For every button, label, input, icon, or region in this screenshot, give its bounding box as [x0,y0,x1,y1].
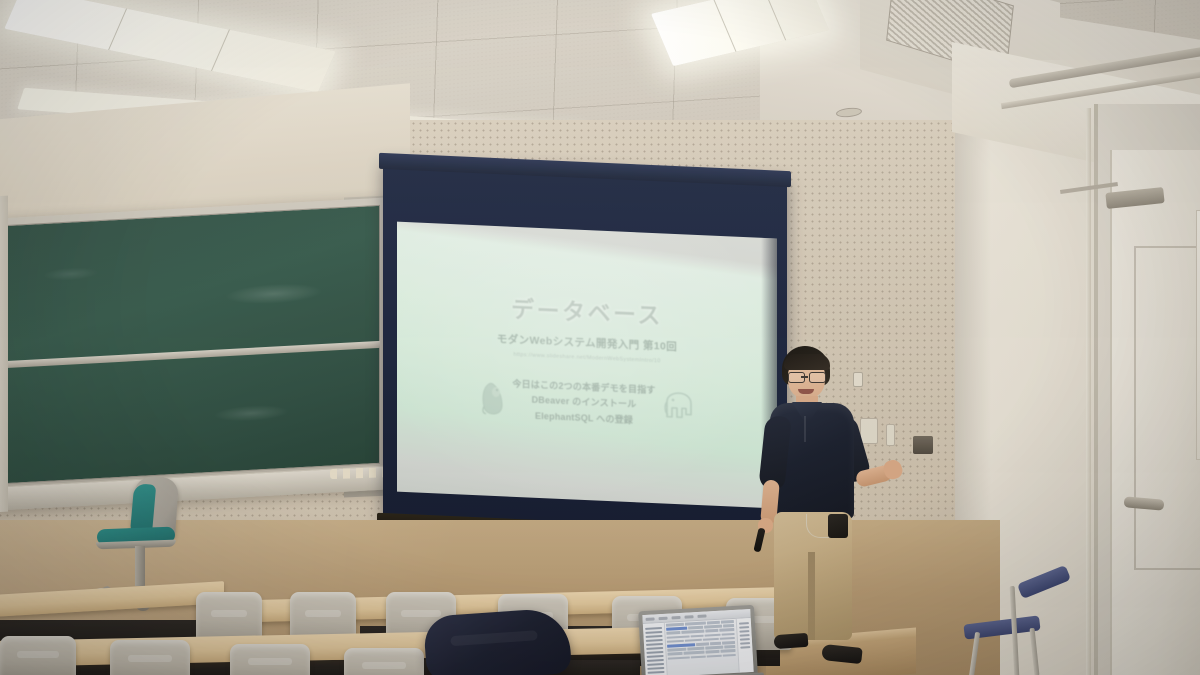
student-chair[interactable] [230,644,310,675]
screen-surface: データベース モダンWebシステム開発入門 第10回 https://www.s… [397,222,777,509]
right-shoe [821,644,862,664]
av-input-panel[interactable] [913,436,933,454]
door-vision-panel [1196,210,1200,460]
projection-screen[interactable]: データベース モダンWebシステム開発入門 第10回 https://www.s… [383,159,787,537]
laptop-screen[interactable] [642,609,753,675]
laptop-data-grid [665,619,739,675]
elephant-mascot-icon [662,389,694,422]
classroom-scene: データベース モダンWebシステム開発入門 第10回 https://www.s… [0,0,1200,675]
slide-content: データベース モダンWebシステム開発入門 第10回 https://www.s… [397,249,777,471]
laptop-sidebar [643,623,668,675]
slide-subtitle: モダンWebシステム開発入門 第10回 [497,331,677,354]
classroom-door[interactable] [1110,150,1200,675]
chalkboard[interactable] [0,197,390,510]
slide-body: 今日はこの2つの本番デモを目指す DBeaver のインストール Elephan… [480,372,693,430]
shirt-placket [804,416,806,442]
student-chair[interactable] [0,636,76,675]
laptop-lid [638,605,758,675]
toolbar-item [684,615,693,618]
slide-bullet-list: 今日はこの2つの本番デモを目指す DBeaver のインストール Elephan… [512,374,655,429]
door-panel-inset [1134,246,1200,570]
trouser-seam [808,552,815,640]
left-shoe [774,633,809,649]
glasses-bridge [801,376,808,378]
student-chair[interactable] [110,640,190,675]
presenter [744,346,904,675]
wall-mullion [1086,108,1091,675]
beaver-mascot-icon [480,380,506,415]
toolbar-item [671,615,680,618]
chalkboard-side-post [0,196,8,513]
office-chair-post [135,546,145,586]
toolbar-item [645,617,654,620]
belt-pouch-icon [828,514,848,538]
presenter-laptop[interactable] [638,605,758,675]
presenter-remote-icon[interactable] [753,528,765,553]
slide-title: データベース [511,290,663,331]
bag-on-desk[interactable] [423,607,572,675]
toolbar-item [697,614,706,617]
slide-url: https://www.slideshare.net/ModernWebSyst… [513,352,660,365]
laptop-screen-body [643,618,754,675]
mouth [798,389,814,394]
hair-fringe [784,354,830,370]
student-chair[interactable] [344,648,424,675]
toolbar-item [658,616,667,619]
